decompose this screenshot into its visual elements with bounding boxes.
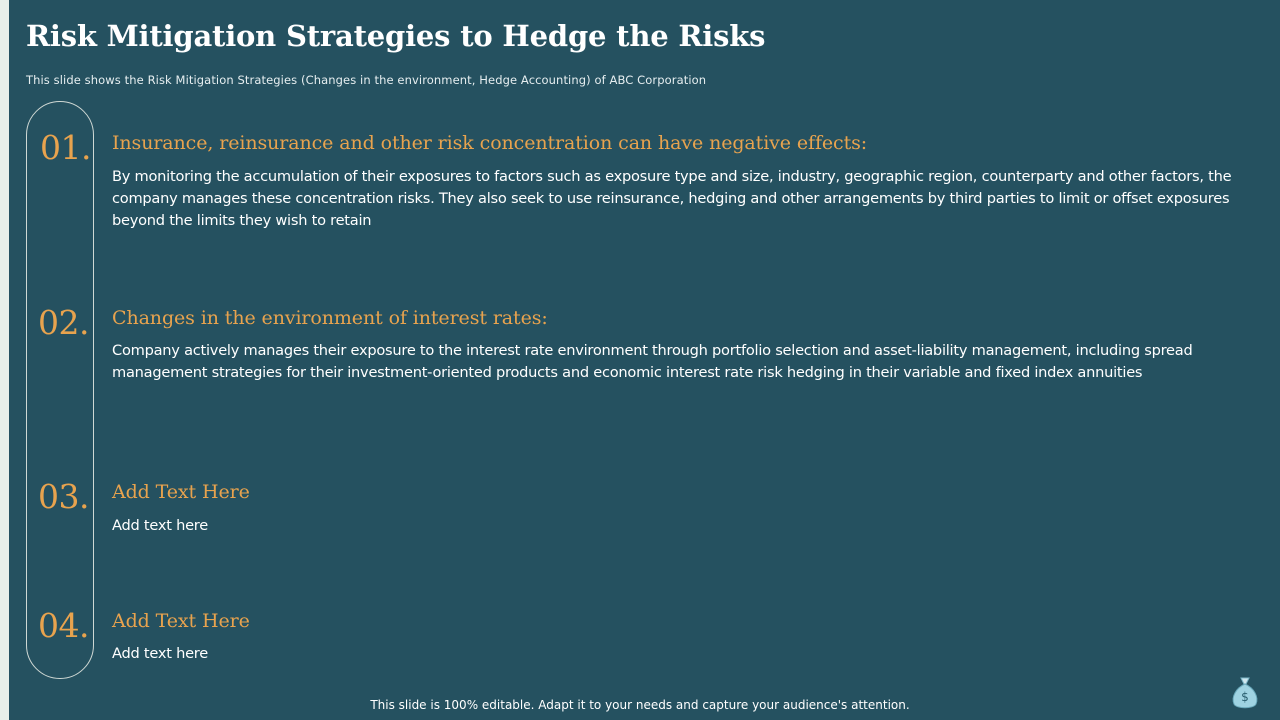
item-heading-04: Add Text Here (112, 610, 250, 632)
item-heading-01: Insurance, reinsurance and other risk co… (112, 132, 867, 154)
item-number-02: 02. (38, 303, 89, 342)
item-number-01: 01. (40, 128, 91, 167)
money-bag-icon: $ (1224, 672, 1266, 714)
page-subtitle: This slide shows the Risk Mitigation Str… (26, 73, 706, 87)
footer-note: This slide is 100% editable. Adapt it to… (0, 698, 1280, 712)
timeline-capsule (26, 101, 94, 679)
item-body-03: Add text here (112, 515, 1232, 537)
item-number-04: 04. (38, 606, 89, 645)
slide-root: Risk Mitigation Strategies to Hedge the … (0, 0, 1280, 720)
item-body-02: Company actively manages their exposure … (112, 340, 1232, 384)
svg-text:$: $ (1241, 690, 1249, 704)
item-heading-03: Add Text Here (112, 481, 250, 503)
item-body-01: By monitoring the accumulation of their … (112, 166, 1232, 232)
page-title: Risk Mitigation Strategies to Hedge the … (26, 19, 765, 53)
left-accent-bar (0, 0, 9, 720)
item-body-04: Add text here (112, 643, 1232, 665)
item-number-03: 03. (38, 477, 89, 516)
item-heading-02: Changes in the environment of interest r… (112, 307, 548, 329)
